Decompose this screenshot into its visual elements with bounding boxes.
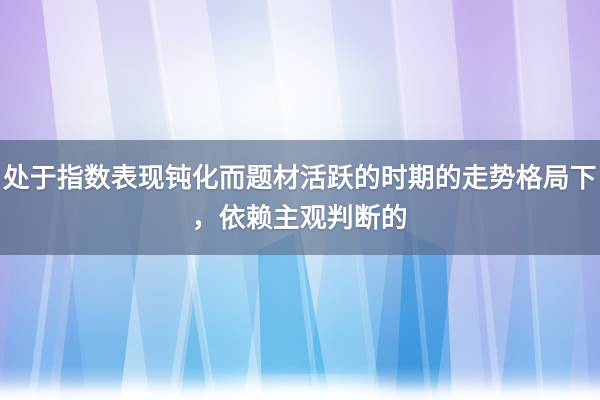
caption-band: 处于指数表现钝化而题材活跃的时期的走势格局下 ，依赖主观判断的 bbox=[0, 140, 600, 255]
caption-line-2: ，依赖主观判断的 bbox=[192, 198, 408, 238]
banner-image: 处于指数表现钝化而题材活跃的时期的走势格局下 ，依赖主观判断的 bbox=[0, 0, 600, 400]
caption-line-1: 处于指数表现钝化而题材活跃的时期的走势格局下 bbox=[3, 158, 597, 198]
